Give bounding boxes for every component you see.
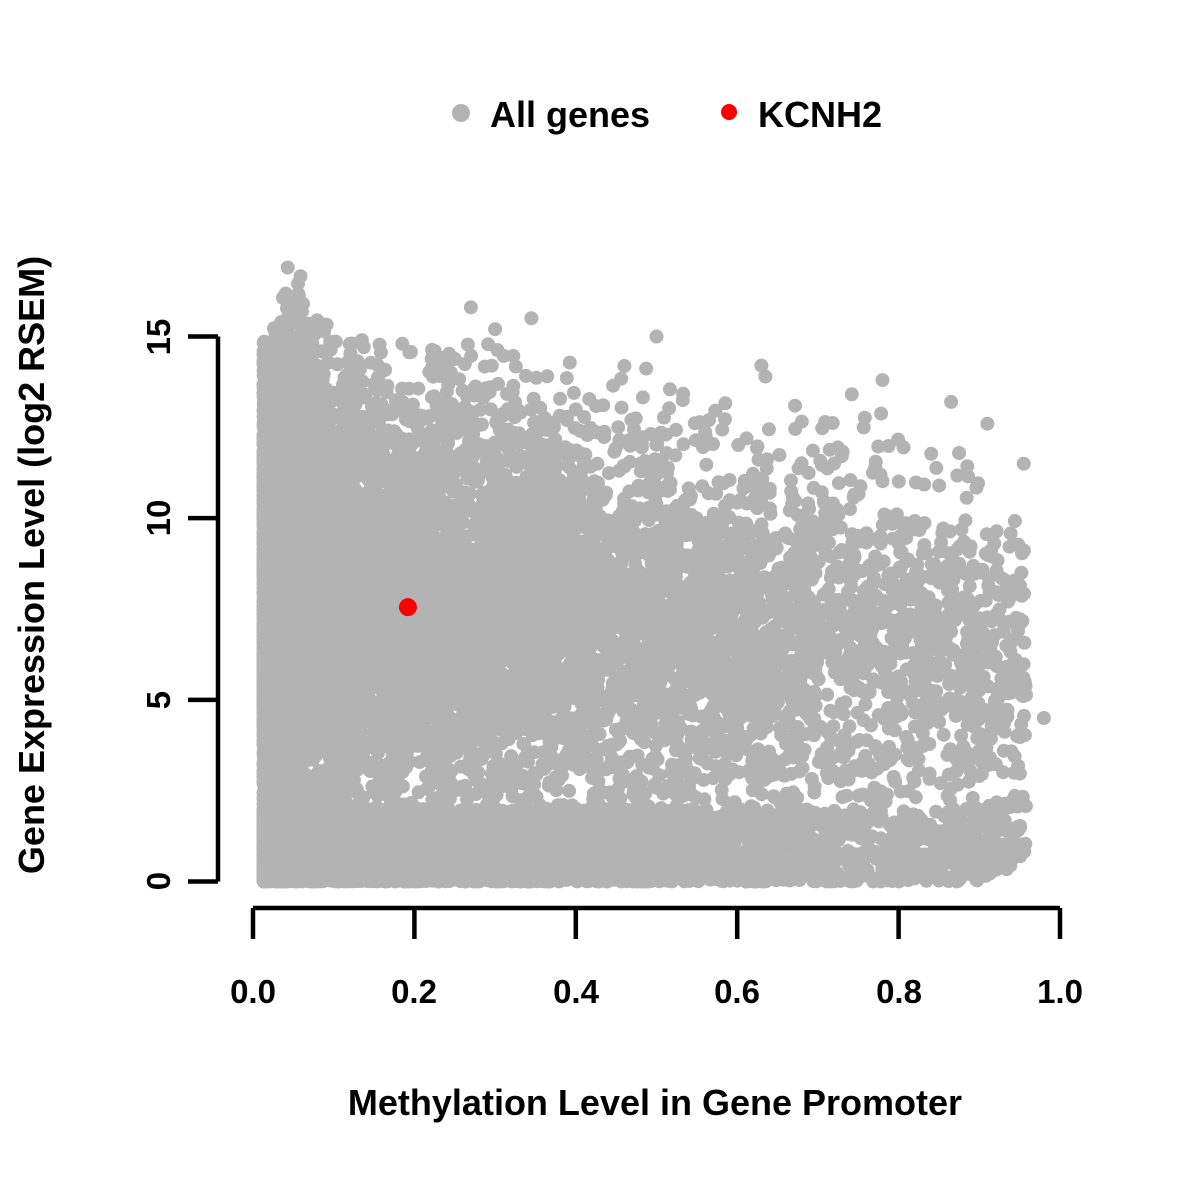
y-tick-label-1: 5 bbox=[140, 691, 177, 709]
x-tick-label-1: 0.2 bbox=[391, 973, 437, 1010]
legend-label-kcnh2: KCNH2 bbox=[758, 94, 882, 135]
x-axis-title: Methylation Level in Gene Promoter bbox=[348, 1082, 962, 1123]
x-tick-label-0: 0.0 bbox=[230, 973, 276, 1010]
x-tick-label-4: 0.8 bbox=[876, 973, 922, 1010]
kcnh2-data-point bbox=[399, 598, 417, 616]
y-tick-label-0: 0 bbox=[140, 872, 177, 890]
y-axis-title: Gene Expression Level (log2 RSEM) bbox=[11, 256, 52, 874]
x-tick-label-3: 0.6 bbox=[714, 973, 760, 1010]
y-tick-label-3: 15 bbox=[140, 319, 177, 356]
legend-marker-kcnh2 bbox=[721, 104, 737, 120]
plot-canvas: All genes KCNH2 Methylation Level in Gen… bbox=[0, 0, 1200, 1200]
x-tick-label-5: 1.0 bbox=[1037, 973, 1083, 1010]
y-tick-label-2: 10 bbox=[140, 500, 177, 537]
highlight-point-layer bbox=[399, 598, 417, 616]
scatter-plot-figure: All genes KCNH2 Methylation Level in Gen… bbox=[0, 0, 1200, 1200]
legend-marker-all-genes bbox=[452, 104, 470, 122]
x-tick-label-2: 0.4 bbox=[553, 973, 600, 1010]
legend-label-all-genes: All genes bbox=[490, 94, 650, 135]
